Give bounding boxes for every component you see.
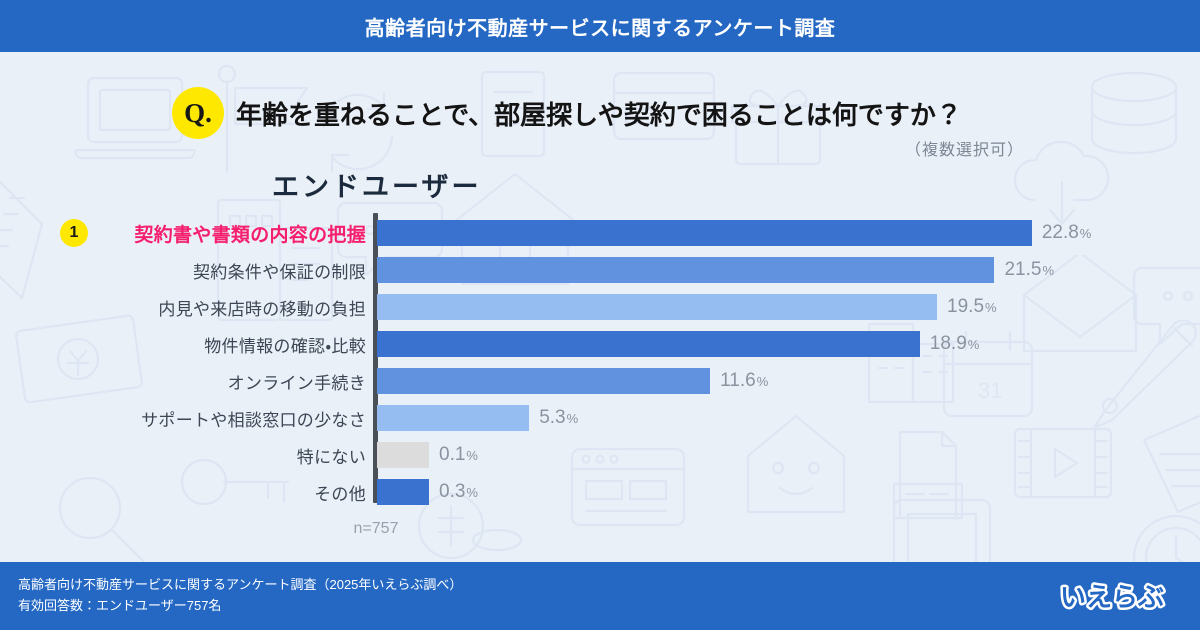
bar-value-number: 11.6	[720, 368, 756, 394]
question-badge: Q.	[172, 87, 224, 139]
bar-row-label-wrap: 物件情報の確認・比較	[0, 331, 366, 357]
bar-row-label: 内見や来店時の移動の負担	[158, 295, 366, 320]
footer-bar: 高齢者向け不動産サービスに関するアンケート調査（2025年いえらぶ調べ） 有効回…	[0, 562, 1200, 630]
bar-row-label: 契約書や書類の内容の把握	[134, 220, 366, 247]
bar-row-label-wrap: オンライン手続き	[0, 368, 366, 394]
bar-value-unit: %	[1042, 258, 1054, 284]
sample-size-label: n=757	[330, 520, 422, 538]
bar-value-label: 0.1%	[439, 442, 478, 468]
bar-value-unit: %	[757, 369, 769, 395]
bar-value-unit: %	[466, 480, 478, 506]
bar-value-label: 11.6%	[720, 368, 768, 394]
bar-value-number: 5.3	[539, 405, 565, 431]
bar-row: 物件情報の確認・比較18.9%	[0, 331, 1200, 357]
bar-value-label: 18.9%	[930, 331, 980, 357]
bar-row: オンライン手続き11.6%	[0, 368, 1200, 394]
question-text: 年齢を重ねることで、部屋探しや契約で困ることは何ですか？	[236, 95, 962, 132]
bar-row-label: サポートや相談窓口の少なさ	[141, 406, 366, 431]
bar-row-label-wrap: その他	[0, 479, 366, 505]
bar	[377, 442, 429, 468]
bar-chart: 1契約書や書類の内容の把握22.8%契約条件や保証の制限21.5%内見や来店時の…	[0, 210, 1200, 510]
bar-row-label: その他	[314, 480, 366, 505]
bar-row: 契約条件や保証の制限21.5%	[0, 257, 1200, 283]
bar-row-label-wrap: 1契約書や書類の内容の把握	[0, 220, 366, 246]
bar-value-label: 19.5%	[947, 294, 997, 320]
bar	[377, 405, 529, 431]
bar	[377, 368, 710, 394]
bar-value-label: 21.5%	[1004, 257, 1054, 283]
bar-row: 1契約書や書類の内容の把握22.8%	[0, 220, 1200, 246]
bar-row: サポートや相談窓口の少なさ5.3%	[0, 405, 1200, 431]
bar	[377, 294, 937, 320]
bar-value-unit: %	[1080, 221, 1092, 247]
footer-line-2: 有効回答数：エンドユーザー757名	[18, 595, 462, 616]
footer-line-1: 高齢者向け不動産サービスに関するアンケート調査（2025年いえらぶ調べ）	[18, 574, 462, 595]
bar-value-number: 18.9	[930, 331, 967, 357]
bar	[377, 257, 994, 283]
bar-value-number: 21.5	[1004, 257, 1041, 283]
bar-value-unit: %	[567, 406, 579, 432]
bar-value-label: 0.3%	[439, 479, 478, 505]
bar	[377, 479, 429, 505]
bar-value-unit: %	[985, 295, 997, 321]
ierabu-logo-text: いえらぶ	[1060, 582, 1164, 612]
bar	[377, 331, 920, 357]
bar-value-label: 22.8%	[1042, 220, 1092, 246]
bar-value-unit: %	[968, 332, 980, 358]
footer-text: 高齢者向け不動産サービスに関するアンケート調査（2025年いえらぶ調べ） 有効回…	[18, 574, 462, 616]
bar-row-label-wrap: 特にない	[0, 442, 366, 468]
question-row: Q. 年齢を重ねることで、部屋探しや契約で困ることは何ですか？	[0, 86, 1200, 140]
bar-row-label-wrap: サポートや相談窓口の少なさ	[0, 405, 366, 431]
bar-row: その他0.3%	[0, 479, 1200, 505]
question-note: （複数選択可）	[0, 136, 1024, 160]
bar-row-label: オンライン手続き	[228, 369, 366, 394]
header-bar: 高齢者向け不動産サービスに関するアンケート調査	[0, 0, 1200, 52]
chart-title: エンドユーザー	[272, 165, 481, 204]
ierabu-logo-icon: いえらぶ	[1042, 576, 1182, 616]
bar-row-label-wrap: 内見や来店時の移動の負担	[0, 294, 366, 320]
bar-value-number: 22.8	[1042, 220, 1079, 246]
bar-value-label: 5.3%	[539, 405, 578, 431]
infographic-page: 31	[0, 0, 1200, 630]
bar-row: 内見や来店時の移動の負担19.5%	[0, 294, 1200, 320]
bar-row-label: 特にない	[297, 443, 366, 468]
bar-value-number: 0.3	[439, 479, 465, 505]
bar-value-number: 0.1	[439, 442, 465, 468]
bar-value-unit: %	[466, 443, 478, 469]
ierabu-logo[interactable]: いえらぶ	[1042, 576, 1182, 616]
bar-row-label-wrap: 契約条件や保証の制限	[0, 257, 366, 283]
bar-row: 特にない0.1%	[0, 442, 1200, 468]
rank-badge: 1	[60, 219, 88, 247]
header-title: 高齢者向け不動産サービスに関するアンケート調査	[365, 12, 836, 41]
bar-value-number: 19.5	[947, 294, 984, 320]
bar	[377, 220, 1032, 246]
bar-row-label: 契約条件や保証の制限	[193, 258, 366, 283]
bar-row-label: 物件情報の確認・比較	[204, 332, 366, 357]
